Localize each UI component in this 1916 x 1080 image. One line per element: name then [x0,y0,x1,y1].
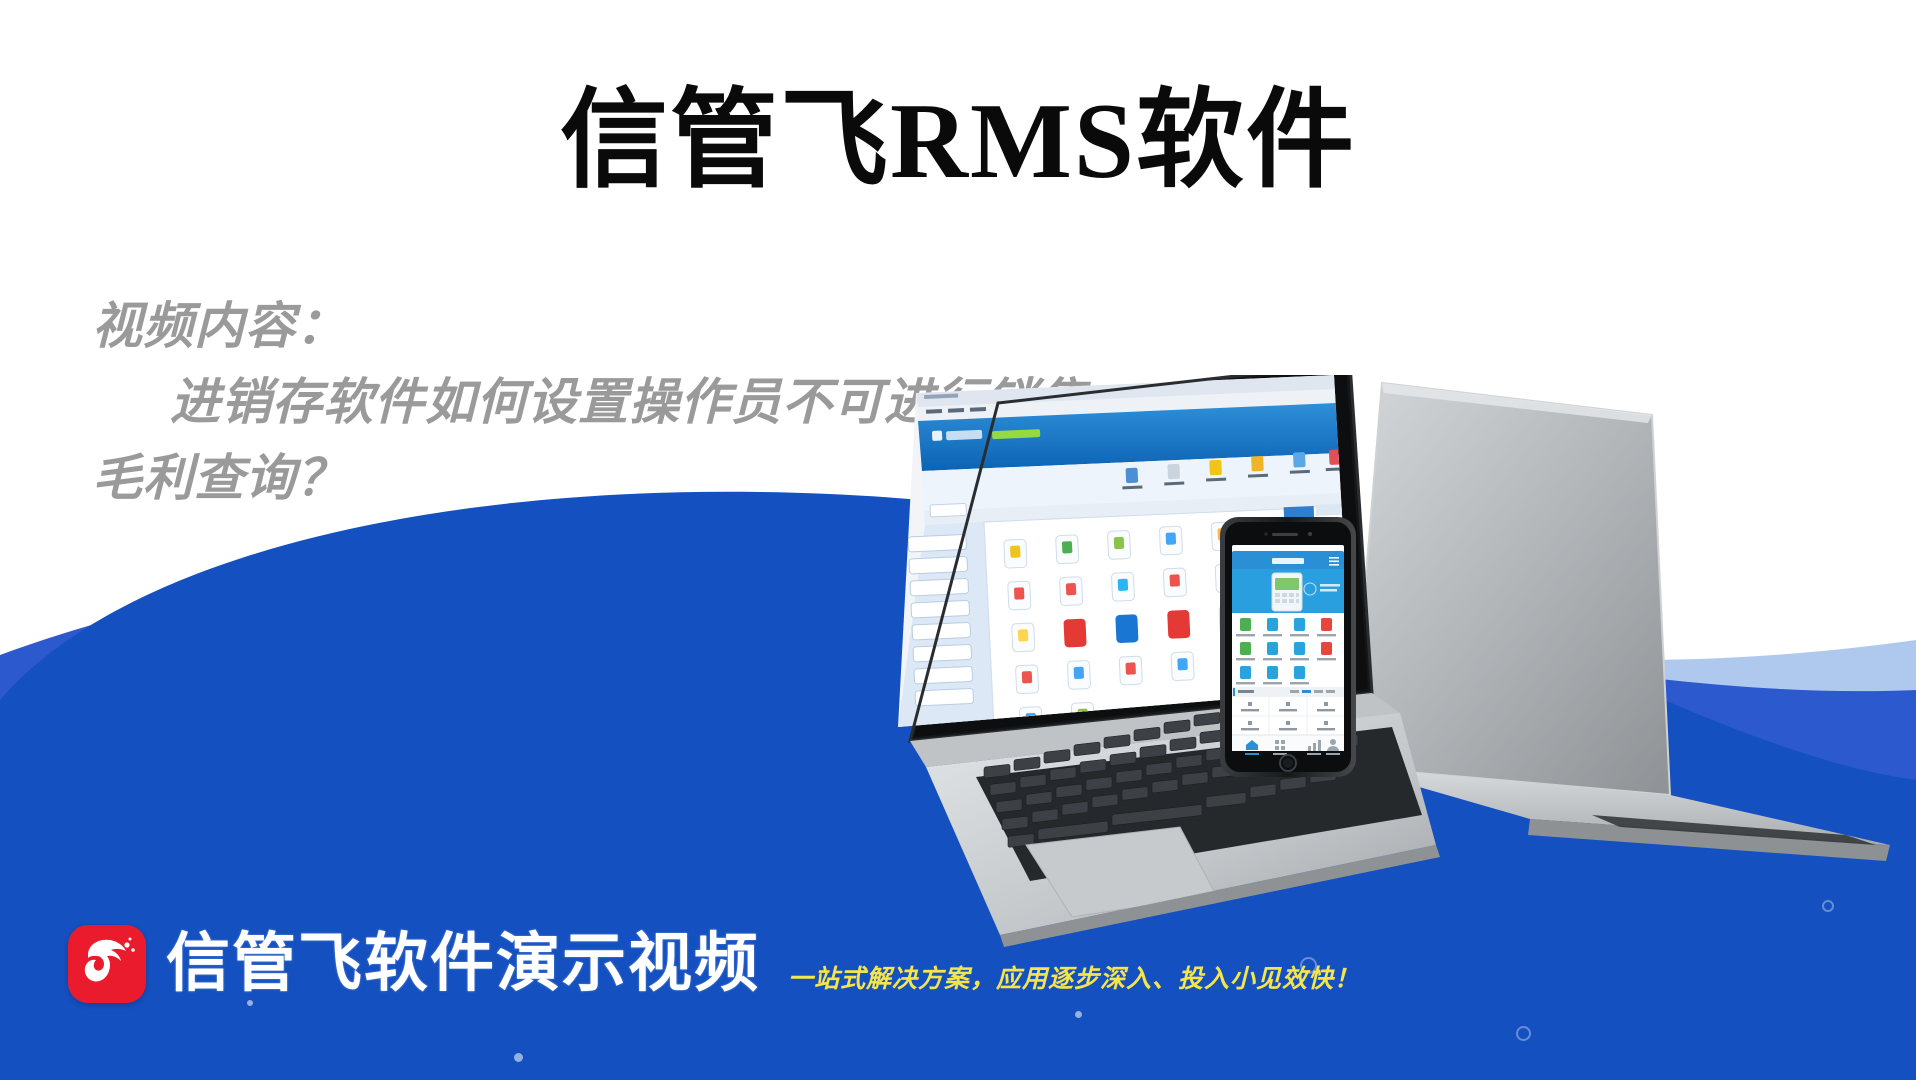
phone-screen [1232,545,1344,755]
device-mockup-group [880,375,1916,935]
decor-dot [514,1053,523,1062]
body-label: 视频内容： [92,288,1092,364]
decor-dot [1516,1026,1531,1041]
phone-device [1220,517,1356,777]
decor-dot [1822,900,1834,912]
slide-title: 信管飞RMS软件 [0,88,1916,196]
brand-name: 信管飞软件演示视频 [166,925,760,1003]
laptop-back [1350,383,1890,861]
laptop-front [890,375,1440,947]
decor-dot [1075,1011,1082,1018]
slide-canvas: 信管飞RMS软件 视频内容： 进销存软件如何设置操作员不可进行销售毛利查询？ [0,0,1916,1080]
brand-tagline: 一站式解决方案，应用逐步深入、投入小见效快！ [788,959,1360,995]
footer-brand: 信管飞软件演示视频 一站式解决方案，应用逐步深入、投入小见效快！ [68,925,1360,1003]
xinguanfei-bird-logo-icon [68,925,146,1003]
hamburger-menu-icon [1329,557,1339,566]
